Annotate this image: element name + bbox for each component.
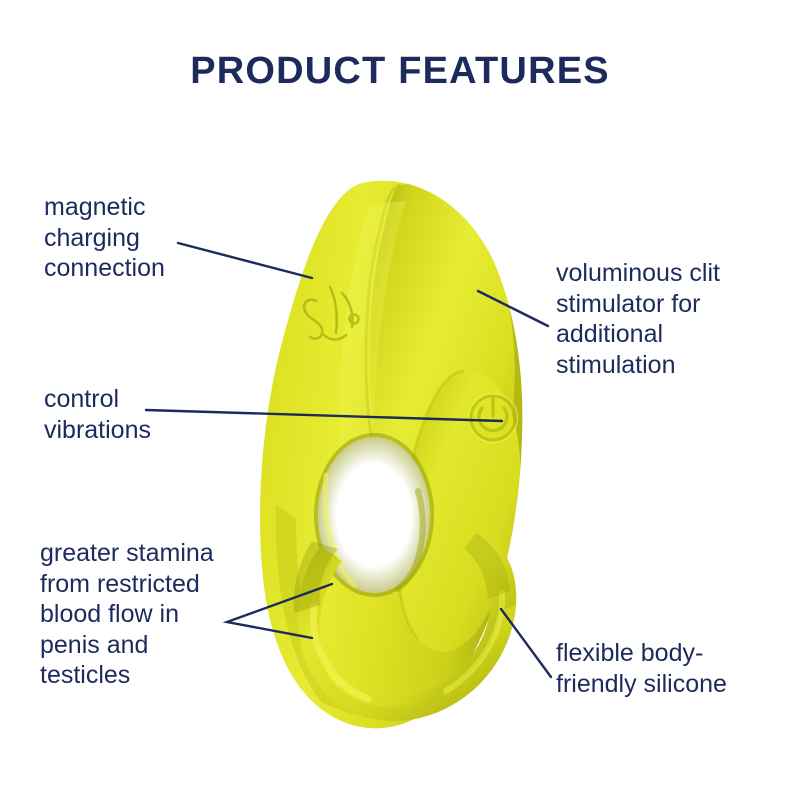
callout-control-vibrations: control vibrations [44,384,294,445]
product-features-infographic: PRODUCT FEATURES [0,0,800,800]
callout-greater-stamina: greater stamina from restricted blood fl… [40,538,290,691]
callout-magnetic-charging: magnetic charging connection [44,192,294,284]
product-illustration [250,175,580,735]
callout-flexible-silicone: flexible body- friendly silicone [556,638,800,699]
callout-clit-stimulator: voluminous clit stimulator for additiona… [556,258,800,380]
page-title: PRODUCT FEATURES [0,50,800,93]
